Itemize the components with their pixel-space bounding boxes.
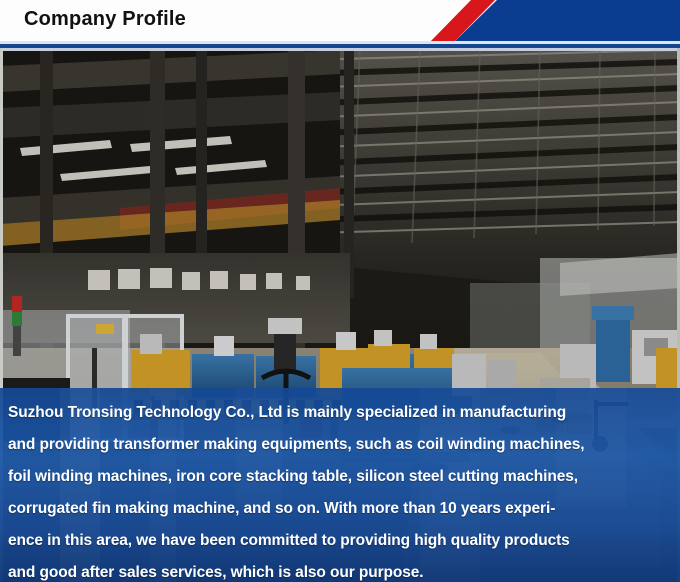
company-description-overlay: Suzhou Tronsing Technology Co., Ltd is m… <box>0 388 680 582</box>
photo-top-edge <box>0 48 680 51</box>
description-line: and good after sales services, which is … <box>8 557 670 582</box>
page-header: Company Profile <box>0 0 680 44</box>
description-line: corrugated fin making machine, and so on… <box>8 493 670 525</box>
description-line: Suzhou Tronsing Technology Co., Ltd is m… <box>8 397 670 429</box>
description-line: and providing transformer making equipme… <box>8 429 670 461</box>
description-line: ence in this area, we have been committe… <box>8 525 670 557</box>
company-profile-page: Company Profile <box>0 0 680 582</box>
company-description-text: Suzhou Tronsing Technology Co., Ltd is m… <box>0 388 680 582</box>
description-line: foil winding machines, iron core stackin… <box>8 461 670 493</box>
page-title: Company Profile <box>24 8 186 31</box>
